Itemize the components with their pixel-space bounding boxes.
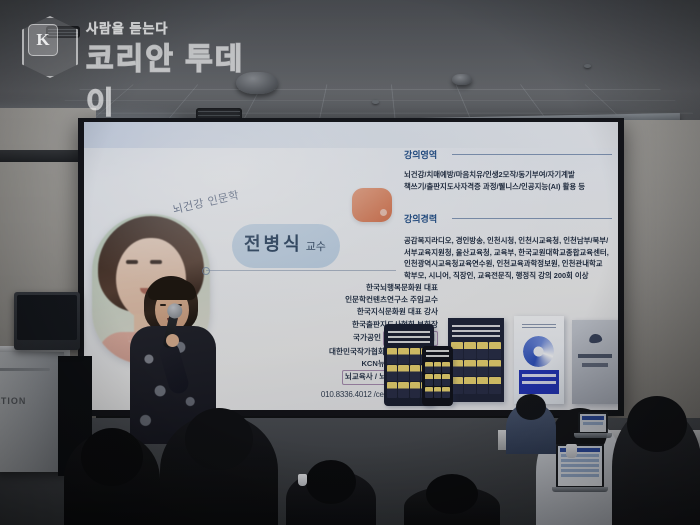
audience-member <box>612 406 700 525</box>
smoke-detector-icon <box>584 64 591 68</box>
paper-cup <box>566 444 577 458</box>
lecture-hall-photo: 뇌건강 인문학 전병식교수 한국뇌행복문화원 대표인문학컨텐츠연구소 주임교수한… <box>0 0 700 525</box>
audience-laptop <box>556 444 604 488</box>
stage-monitor <box>14 292 80 350</box>
podium-label: ATION <box>0 396 26 406</box>
wall-dark-strip <box>0 150 86 162</box>
audience-laptop-back <box>578 412 608 434</box>
smoke-detector-icon <box>372 100 379 104</box>
audience-member <box>160 414 278 525</box>
podium: ATION <box>0 352 64 472</box>
ceiling-speaker-right <box>452 74 472 85</box>
audience-member <box>506 402 556 454</box>
audience-member <box>64 432 160 525</box>
audience-member <box>404 486 500 525</box>
paper-cup <box>298 474 307 486</box>
book-smartphone-ebook <box>422 346 453 406</box>
ceiling-vent-left <box>46 26 80 38</box>
ceiling-speaker <box>236 72 278 94</box>
